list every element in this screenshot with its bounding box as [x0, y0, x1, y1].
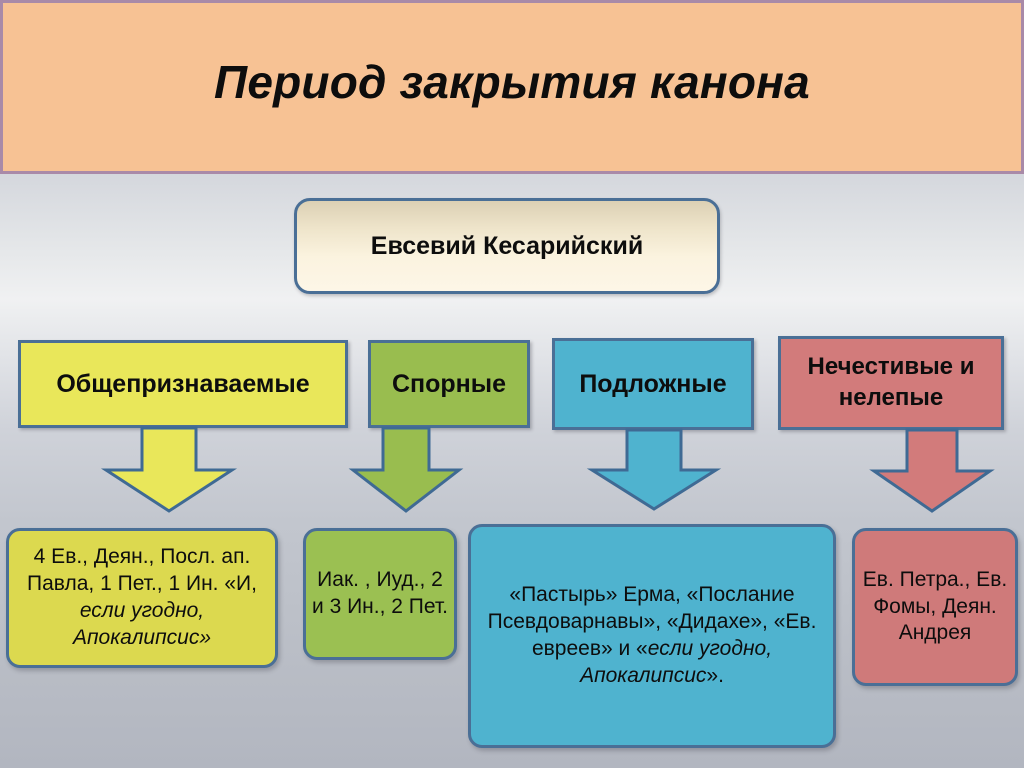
- slide-title-band: Период закрытия канона: [0, 0, 1024, 174]
- root-node-eusebius[interactable]: Евсевий Кесарийский: [294, 198, 720, 294]
- leaf-text: Иак. , Иуд., 2 и 3 Ин., 2 Пет.: [306, 567, 454, 621]
- down-arrow-icon: [872, 430, 992, 512]
- category-label: Подложные: [555, 368, 751, 400]
- category-box-undisputed[interactable]: Общепризнаваемые: [18, 340, 348, 428]
- down-arrow-icon: [105, 428, 233, 512]
- leaf-text: Ев. Петра., Ев. Фомы, Деян. Андрея: [855, 567, 1015, 648]
- category-label: Спорные: [371, 368, 527, 400]
- leaf-box-disputed-books[interactable]: Иак. , Иуд., 2 и 3 Ин., 2 Пет.: [303, 528, 457, 660]
- category-label: Общепризнаваемые: [21, 368, 345, 400]
- leaf-text: «Пастырь» Ерма, «Послание Псевдоварнавы»…: [471, 582, 833, 690]
- page-title: Период закрытия канона: [3, 55, 1021, 109]
- category-box-spurious[interactable]: Подложные: [552, 338, 754, 430]
- category-box-disputed[interactable]: Спорные: [368, 340, 530, 428]
- down-arrow-icon: [351, 428, 461, 512]
- category-box-heretical[interactable]: Нечестивые и нелепые: [778, 336, 1004, 430]
- leaf-box-heretical-books[interactable]: Ев. Петра., Ев. Фомы, Деян. Андрея: [852, 528, 1018, 686]
- leaf-text-plain-tail: ».: [706, 664, 724, 687]
- leaf-box-spurious-books[interactable]: «Пастырь» Ерма, «Послание Псевдоварнавы»…: [468, 524, 836, 748]
- leaf-text: 4 Ев., Деян., Посл. ап. Павла, 1 Пет., 1…: [9, 544, 275, 652]
- leaf-text-plain: 4 Ев., Деян., Посл. ап. Павла, 1 Пет., 1…: [27, 545, 257, 595]
- slide-canvas: Период закрытия канона Евсевий Кесарийск…: [0, 0, 1024, 768]
- leaf-text-italic: если угодно, Апокалипсис»: [73, 599, 211, 649]
- leaf-box-undisputed-books[interactable]: 4 Ев., Деян., Посл. ап. Павла, 1 Пет., 1…: [6, 528, 278, 668]
- root-node-label: Евсевий Кесарийский: [297, 230, 717, 262]
- category-label: Нечестивые и нелепые: [781, 352, 1001, 413]
- down-arrow-icon: [590, 430, 718, 510]
